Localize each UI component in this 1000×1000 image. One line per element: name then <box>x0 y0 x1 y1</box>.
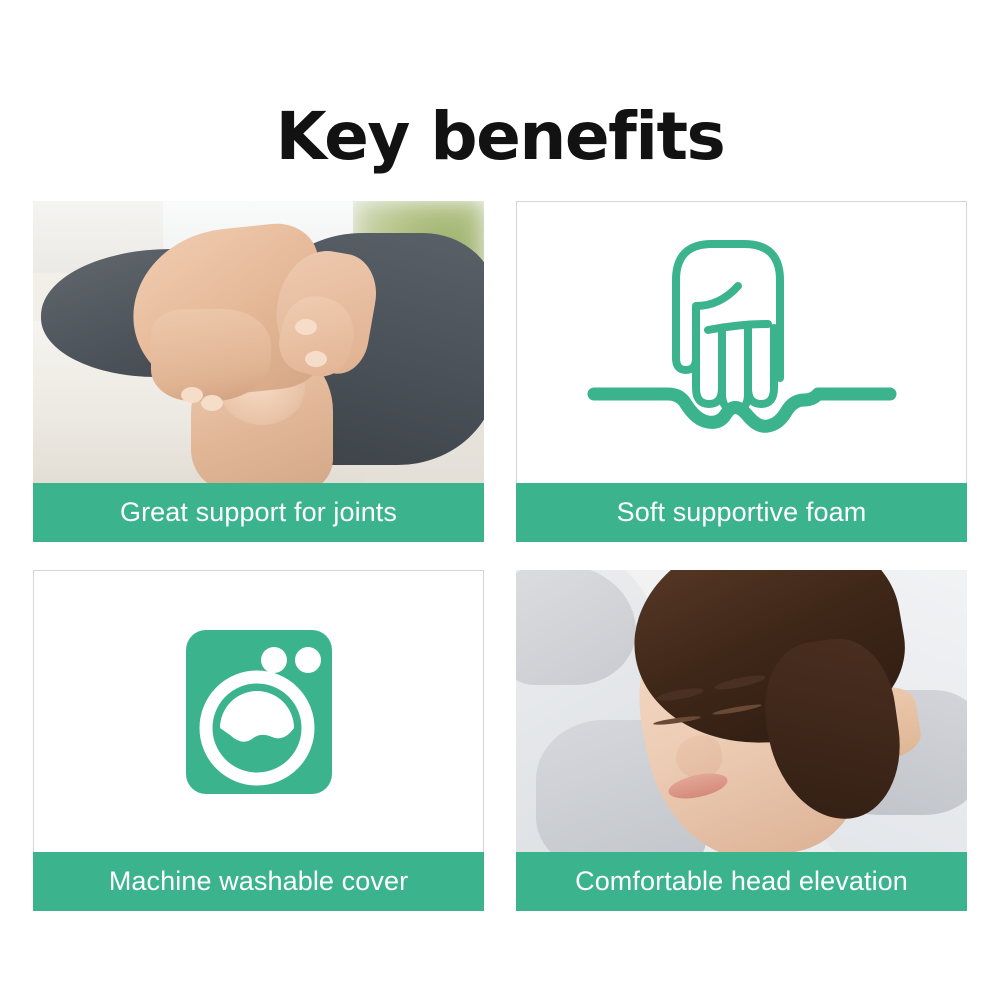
benefits-grid: Great support for joints <box>33 201 967 911</box>
machine-washable-panel <box>33 570 484 852</box>
benefit-caption: Machine washable cover <box>33 852 484 911</box>
benefit-card-soft-supportive-foam[interactable]: Soft supportive foam <box>516 201 967 542</box>
head-elevation-photo <box>516 570 967 852</box>
benefit-caption: Great support for joints <box>33 483 484 542</box>
hand-pressing-foam-icon <box>517 202 966 483</box>
page-title: Key benefits <box>0 98 1000 176</box>
knee-support-photo <box>33 201 484 483</box>
benefit-card-comfortable-head-elevation[interactable]: Comfortable head elevation <box>516 570 967 911</box>
benefit-card-machine-washable-cover[interactable]: Machine washable cover <box>33 570 484 911</box>
benefit-caption: Comfortable head elevation <box>516 852 967 911</box>
soft-foam-panel <box>516 201 967 483</box>
benefit-card-great-support-for-joints[interactable]: Great support for joints <box>33 201 484 542</box>
benefit-caption: Soft supportive foam <box>516 483 967 542</box>
key-benefits-page: Key benefits <box>0 0 1000 1000</box>
washing-machine-icon <box>34 571 483 852</box>
